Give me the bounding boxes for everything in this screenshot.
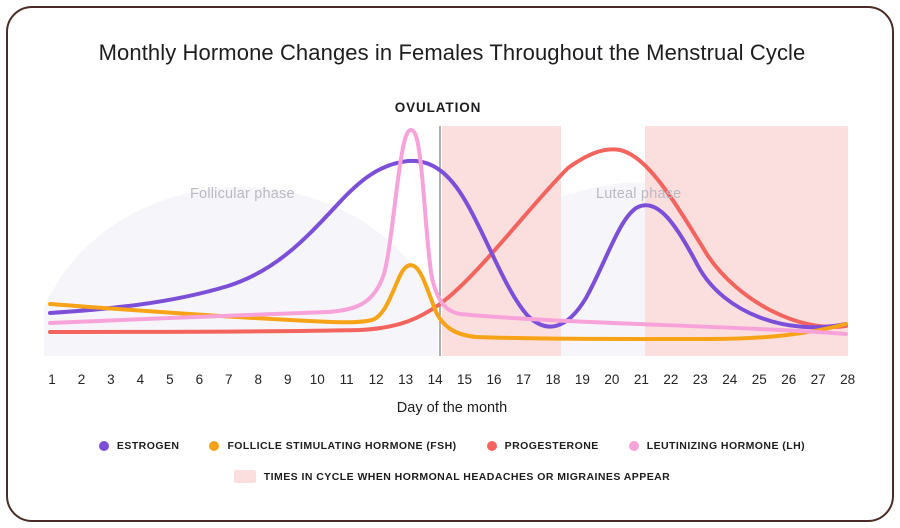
x-tick-8: 8 (246, 372, 270, 387)
x-tick-26: 26 (777, 372, 801, 387)
x-tick-14: 14 (423, 372, 447, 387)
x-tick-21: 21 (629, 372, 653, 387)
legend-item-leutinizing-hormone-lh: LEUTINIZING HORMONE (LH) (629, 440, 805, 452)
chart-legend: ESTROGENFOLLICLE STIMULATING HORMONE (FS… (8, 440, 894, 483)
x-tick-7: 7 (217, 372, 241, 387)
x-axis-tick-labels: 1234567891011121314151617181920212223242… (40, 366, 860, 392)
chart-card: Monthly Hormone Changes in Females Throu… (6, 6, 894, 522)
x-tick-10: 10 (305, 372, 329, 387)
x-tick-23: 23 (688, 372, 712, 387)
legend-row-band: TIMES IN CYCLE WHEN HORMONAL HEADACHES O… (8, 470, 894, 483)
x-tick-15: 15 (453, 372, 477, 387)
x-tick-4: 4 (128, 372, 152, 387)
x-tick-5: 5 (158, 372, 182, 387)
x-tick-28: 28 (836, 372, 860, 387)
x-tick-18: 18 (541, 372, 565, 387)
legend-item-follicle-stimulating-hormone-fsh: FOLLICLE STIMULATING HORMONE (FSH) (209, 440, 456, 452)
legend-label-headache-band: TIMES IN CYCLE WHEN HORMONAL HEADACHES O… (264, 471, 670, 483)
x-tick-27: 27 (806, 372, 830, 387)
x-tick-9: 9 (276, 372, 300, 387)
x-tick-19: 19 (570, 372, 594, 387)
x-tick-24: 24 (718, 372, 742, 387)
headache-band-2 (645, 126, 848, 356)
legend-label: FOLLICLE STIMULATING HORMONE (FSH) (227, 440, 456, 452)
legend-row-series: ESTROGENFOLLICLE STIMULATING HORMONE (FS… (8, 440, 894, 452)
legend-label: ESTROGEN (117, 440, 180, 452)
x-tick-20: 20 (600, 372, 624, 387)
legend-dot-icon (99, 441, 109, 451)
x-tick-22: 22 (659, 372, 683, 387)
legend-item-progesterone: PROGESTERONE (487, 440, 599, 452)
x-tick-17: 17 (512, 372, 536, 387)
x-tick-25: 25 (747, 372, 771, 387)
legend-dot-icon (487, 441, 497, 451)
legend-swatch-headache-band (234, 470, 256, 483)
x-axis-title: Day of the month (8, 400, 894, 416)
x-tick-13: 13 (394, 372, 418, 387)
x-tick-6: 6 (187, 372, 211, 387)
legend-dot-icon (629, 441, 639, 451)
legend-label: PROGESTERONE (505, 440, 599, 452)
legend-item-headache-band: TIMES IN CYCLE WHEN HORMONAL HEADACHES O… (234, 470, 670, 483)
x-tick-12: 12 (364, 372, 388, 387)
x-tick-2: 2 (69, 372, 93, 387)
x-tick-16: 16 (482, 372, 506, 387)
legend-label: LEUTINIZING HORMONE (LH) (647, 440, 805, 452)
x-tick-3: 3 (99, 372, 123, 387)
legend-item-estrogen: ESTROGEN (99, 440, 180, 452)
x-tick-11: 11 (335, 372, 359, 387)
legend-dot-icon (209, 441, 219, 451)
x-tick-1: 1 (40, 372, 64, 387)
